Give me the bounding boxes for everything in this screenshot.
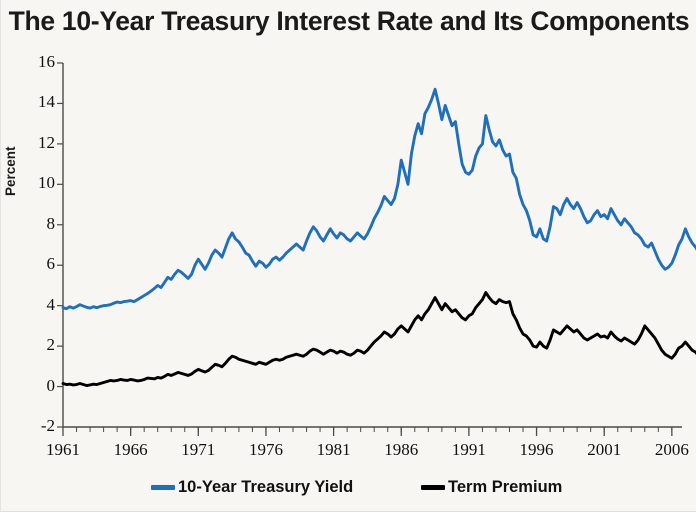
x-tick-label: 1961: [46, 440, 80, 460]
x-tick-label: 2006: [655, 440, 689, 460]
series-line-term-premium: [63, 293, 696, 386]
chart-legend: 10-Year Treasury YieldTerm Premium: [1, 470, 696, 500]
y-axis-ticks: [57, 63, 63, 427]
chart-figure: The 10-Year Treasury Interest Rate and I…: [0, 0, 696, 512]
x-tick-label: 1986: [384, 440, 418, 460]
x-tick-label: 1991: [452, 440, 486, 460]
x-axis-minor-ticks: [63, 427, 672, 432]
legend-entry[interactable]: 10-Year Treasury Yield: [151, 478, 353, 497]
legend-label: Term Premium: [448, 478, 562, 497]
x-tick-label: 1981: [317, 440, 351, 460]
data-series-group: [63, 89, 696, 385]
x-axis-major-ticks: [63, 427, 672, 436]
x-tick-label: 2001: [587, 440, 621, 460]
legend-label: 10-Year Treasury Yield: [178, 478, 353, 497]
series-line-10-year-treasury-yield: [63, 89, 696, 308]
x-tick-label: 1996: [520, 440, 554, 460]
x-tick-label: 1971: [181, 440, 215, 460]
x-tick-label: 1966: [114, 440, 148, 460]
legend-entry[interactable]: Term Premium: [421, 478, 562, 497]
plot-area: [1, 0, 696, 512]
legend-line-swatch-icon: [151, 485, 175, 490]
x-tick-label: 1976: [249, 440, 283, 460]
legend-line-swatch-icon: [421, 485, 445, 490]
axes: [57, 63, 682, 436]
